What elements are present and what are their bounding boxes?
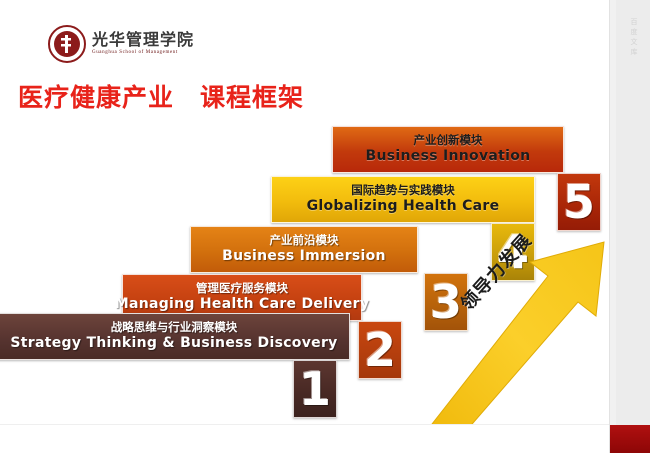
step-2-label-en: Managing Health Care Delivery (115, 296, 370, 313)
step-5-number-tab[interactable]: 5 (557, 173, 601, 231)
step-5-label-en: Business Innovation (366, 148, 531, 165)
rail-watermark: 百度文库 (616, 18, 650, 58)
step-2-number: 2 (364, 327, 396, 373)
right-rail: 百度文库 (609, 0, 650, 453)
step-4-label-cn: 国际趋势与实践模块 (351, 183, 455, 198)
step-1-label-en: Strategy Thinking & Business Discovery (10, 335, 337, 352)
step-3-label-cn: 产业前沿模块 (270, 233, 339, 248)
step-1-number-tab[interactable]: 1 (293, 360, 337, 418)
step-4-band[interactable]: 国际趋势与实践模块 Globalizing Health Care (271, 176, 535, 223)
step-5-number: 5 (563, 179, 595, 225)
step-5-label-cn: 产业创新模块 (414, 133, 483, 148)
step-5-band[interactable]: 产业创新模块 Business Innovation (332, 126, 564, 173)
step-1-band[interactable]: 战略思维与行业洞察模块 Strategy Thinking & Business… (0, 313, 350, 360)
step-2-number-tab[interactable]: 2 (358, 321, 402, 379)
arrow-shape-icon (430, 238, 610, 438)
step-4-label-en: Globalizing Health Care (307, 198, 500, 215)
step-1-label-cn: 战略思维与行业洞察模块 (111, 320, 238, 335)
bottom-strip (0, 424, 610, 453)
leadership-arrow: 领导力发展 (430, 238, 610, 438)
rail-inner-panel: 百度文库 (616, 0, 650, 425)
rail-corner-block (610, 425, 650, 453)
step-3-band[interactable]: 产业前沿模块 Business Immersion (190, 226, 418, 273)
step-1-number: 1 (299, 366, 331, 412)
step-3-label-en: Business Immersion (222, 248, 386, 265)
step-2-label-cn: 管理医疗服务模块 (196, 281, 288, 296)
presentation-slide: 光华管理学院 Guanghua School of Management 医疗健… (0, 0, 650, 453)
